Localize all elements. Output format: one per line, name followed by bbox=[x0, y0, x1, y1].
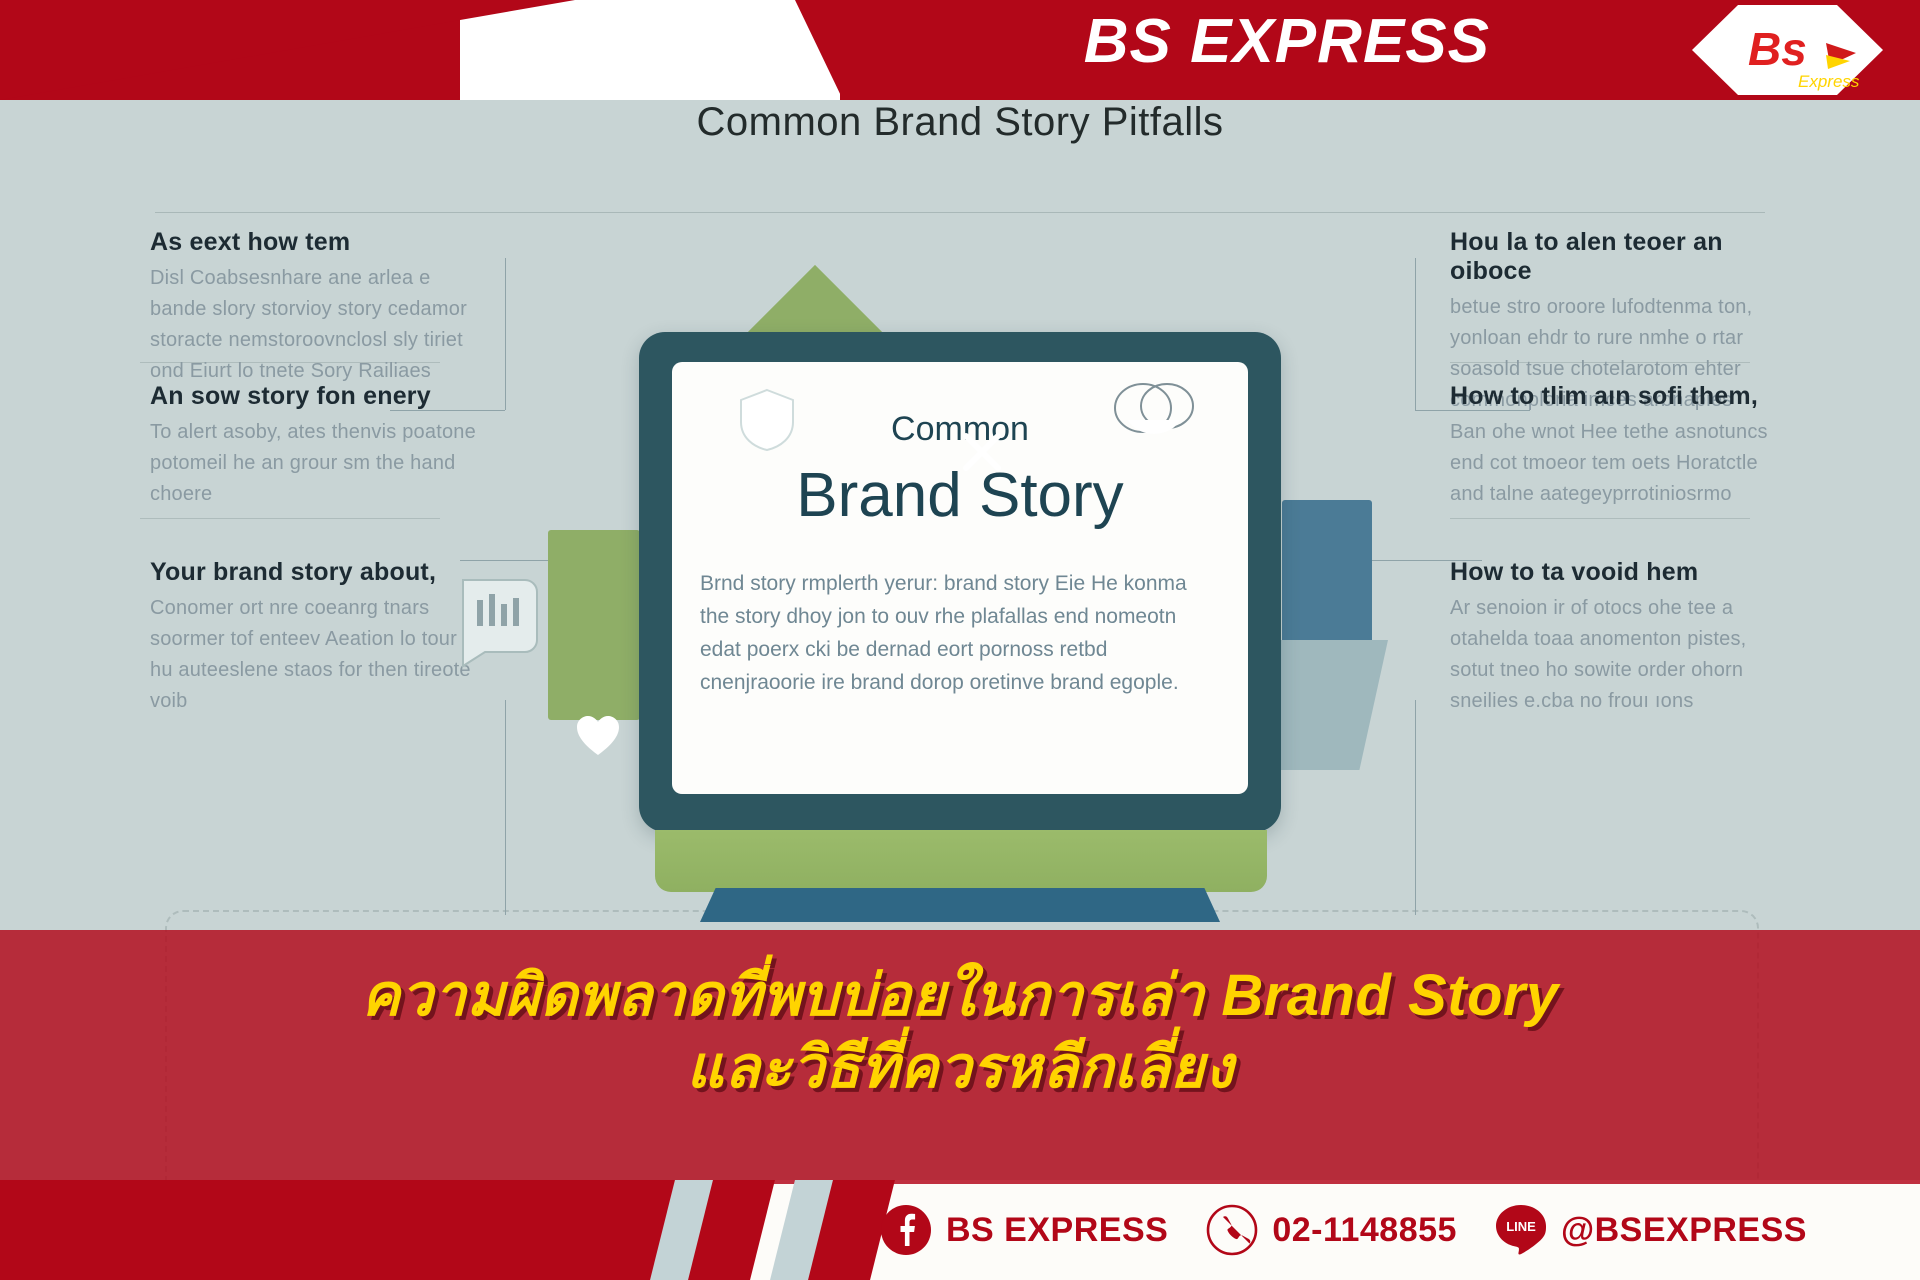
footer-contact-list: BS EXPRESS 02-1148855 LINE bbox=[880, 1180, 1807, 1280]
left-block-1-body: Disl Coabsesnhare ane arlea e bande slor… bbox=[150, 263, 480, 387]
footer-bar: BS EXPRESS 02-1148855 LINE bbox=[0, 1180, 1920, 1280]
left-block-2-body: To alert asoby, ates thenvis poatone pot… bbox=[150, 417, 480, 510]
svg-text:Express: Express bbox=[1798, 72, 1860, 91]
facebook-icon bbox=[880, 1204, 932, 1256]
right-block-3-heading: How to ta vooid hem bbox=[1450, 558, 1790, 587]
phone-icon bbox=[455, 572, 547, 673]
footer-contact-phone[interactable]: 02-1148855 bbox=[1206, 1204, 1457, 1256]
footer-contact-facebook[interactable]: BS EXPRESS bbox=[880, 1204, 1168, 1256]
right-block-3: How to ta vooid hem Ar senoion ir of oto… bbox=[1450, 558, 1790, 717]
left-block-2-heading: An sow story fon enery bbox=[150, 382, 480, 411]
footer-line-label: @BSEXPRESS bbox=[1561, 1211, 1807, 1250]
infographic-title: Common Brand Story Pitfalls bbox=[0, 100, 1920, 145]
left-block-1: As eext how tem Disl Coabsesnhare ane ar… bbox=[150, 228, 480, 387]
header-brand-title: BS EXPRESS bbox=[1084, 6, 1490, 77]
top-header-bar: BS EXPRESS Bs Express bbox=[0, 0, 1920, 100]
svg-text:Bs: Bs bbox=[1748, 23, 1807, 75]
chat-bubble-icon bbox=[1110, 378, 1200, 455]
right-block-2: How to tlim aın sofi them, Ban ohe wnot … bbox=[1450, 382, 1790, 510]
headline-line-1: ความผิดพลาดที่พบบ่อยในการเล่า Brand Stor… bbox=[0, 960, 1920, 1032]
right-block-1-heading: Hou la to alen teoer an oiboce bbox=[1450, 228, 1790, 286]
card-body-text: Brnd story rmplerth yerur: brand story E… bbox=[700, 567, 1220, 699]
connector-left-top-v bbox=[505, 258, 506, 410]
footer-contact-line[interactable]: LINE @BSEXPRESS bbox=[1495, 1204, 1807, 1256]
green-left-block bbox=[548, 530, 640, 720]
left-block-1-heading: As eext how tem bbox=[150, 228, 480, 257]
bs-express-hexagon-logo: Bs Express bbox=[1690, 3, 1885, 97]
top-divider bbox=[155, 212, 1765, 213]
right-block-3-body: Ar senoion ir of otocs ohe tee a otaheld… bbox=[1450, 593, 1790, 717]
laptop-base bbox=[655, 830, 1267, 892]
footer-red-block bbox=[0, 1180, 690, 1280]
right-block-2-heading: How to tlim aın sofi them, bbox=[1450, 382, 1790, 411]
phone-icon bbox=[1206, 1204, 1258, 1256]
connector-right-top-v bbox=[1415, 258, 1416, 410]
left-divider-2 bbox=[140, 518, 440, 519]
laptop-stand bbox=[700, 888, 1220, 922]
headline-line-2: และวิธีที่ควรหลีกเลี่ยง bbox=[0, 1032, 1920, 1104]
heart-icon bbox=[575, 715, 621, 762]
line-icon: LINE bbox=[1495, 1204, 1547, 1256]
connector-right-bottom-v bbox=[1415, 700, 1416, 915]
footer-facebook-label: BS EXPRESS bbox=[946, 1211, 1168, 1250]
infographic-poster: BS EXPRESS Bs Express Common Brand Story… bbox=[0, 0, 1920, 1280]
svg-text:LINE: LINE bbox=[1506, 1219, 1536, 1234]
left-block-3-heading: Your brand story about, bbox=[150, 558, 480, 587]
footer-phone-label: 02-1148855 bbox=[1272, 1211, 1457, 1250]
header-red-right-slant bbox=[795, 0, 843, 100]
header-red-left-slant bbox=[0, 0, 575, 100]
right-divider-2 bbox=[1450, 518, 1750, 519]
left-block-2: An sow story fon enery To alert asoby, a… bbox=[150, 382, 480, 510]
right-block-2-body: Ban ohe wnot Hee tethe asnotuncs end cot… bbox=[1450, 417, 1790, 510]
close-x-icon bbox=[960, 430, 1004, 479]
left-block-3-body: Conomer ort nre coeanrg tnars soormer to… bbox=[150, 593, 480, 717]
shield-icon bbox=[738, 388, 796, 457]
left-block-3: Your brand story about, Conomer ort nre … bbox=[150, 558, 480, 717]
headline-text: ความผิดพลาดที่พบบ่อยในการเล่า Brand Stor… bbox=[0, 960, 1920, 1104]
connector-left-bottom-v bbox=[505, 700, 506, 915]
